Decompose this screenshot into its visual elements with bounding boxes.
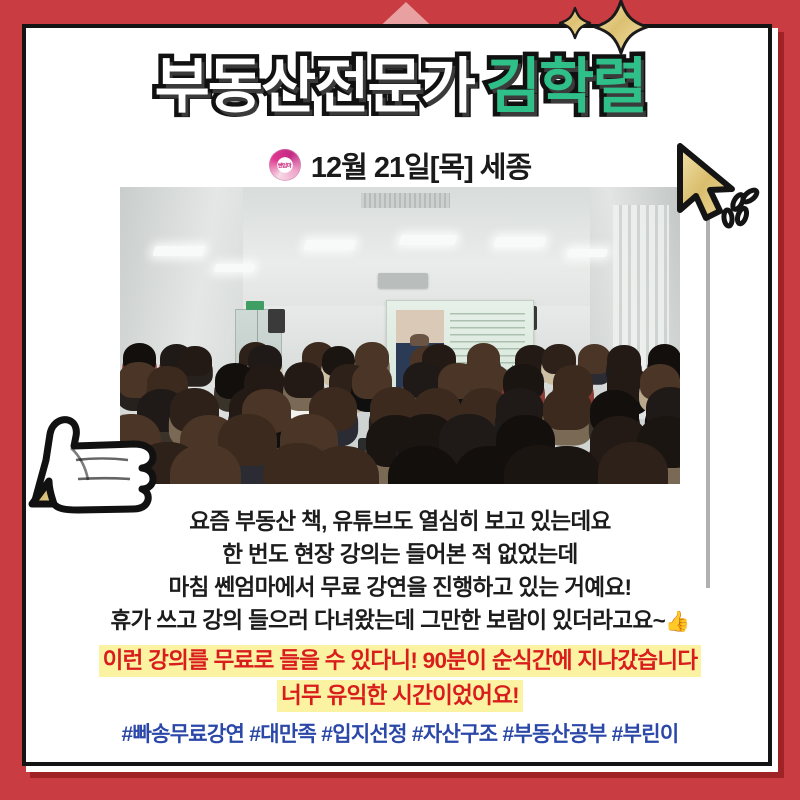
- body-line: 마침 쎈엄마에서 무료 강연을 진행하고 있는 거예요!: [40, 571, 760, 604]
- sparkle-small-icon: [558, 6, 592, 40]
- promo-card: 부동산전문가김학렬 쎈엄마 12월 21일[목] 세종: [0, 0, 800, 800]
- photo-ceiling-light: [494, 237, 547, 247]
- body-line-text: 휴가 쓰고 강의 들으러 다녀왔는데 그만한 보람이 있더라고요~: [111, 608, 666, 633]
- exit-sign-icon: [246, 301, 264, 310]
- title-main: 부동산전문가: [155, 53, 474, 120]
- body-line: 한 번도 현장 강의는 들어본 적 없었는데: [40, 538, 760, 571]
- pointing-hand-icon: [16, 386, 186, 516]
- brand-logo-label: 쎈엄마: [278, 161, 292, 169]
- audience-person: [543, 387, 592, 430]
- photo-ceiling-light: [567, 249, 609, 257]
- photo-ceiling-light: [214, 264, 256, 272]
- photo-projector: [378, 273, 428, 288]
- event-date-location: 12월 21일[목] 세종: [311, 144, 531, 186]
- highlight-block: 이런 강의를 무료로 들을 수 있다니! 90분이 순식간에 지나갔습니다 너무…: [0, 645, 800, 715]
- highlight-line: 너무 유익한 시간이었어요!: [277, 680, 523, 712]
- sparkle-large-icon: [592, 0, 650, 56]
- photo-ceiling-light: [303, 240, 356, 250]
- cursor-arrow-icon: [672, 140, 772, 230]
- body-line: 휴가 쓰고 강의 들으러 다녀왔는데 그만한 보람이 있더라고요~👍: [40, 604, 760, 639]
- thumbs-up-icon: 👍: [665, 611, 689, 633]
- brand-logo-icon: 쎈엄마: [269, 149, 301, 181]
- hashtag-list: #빠송무료강연 #대만족 #입지선정 #자산구조 #부동산공부 #부린이: [0, 718, 800, 748]
- highlight-line: 이런 강의를 무료로 들을 수 있다니! 90분이 순식간에 지나갔습니다: [99, 645, 702, 677]
- photo-ceiling-light: [152, 246, 205, 256]
- photo-ceiling-light: [399, 235, 458, 245]
- photo-audience: [120, 341, 680, 484]
- photo-ceiling-vent: [361, 193, 451, 208]
- lecture-photo: DESCENTE: [120, 187, 680, 484]
- photo-scene: DESCENTE: [120, 187, 680, 484]
- title-accent: 김학렬: [486, 53, 646, 120]
- photo-wall-speaker: [268, 309, 285, 333]
- page-title: 부동산전문가김학렬: [0, 57, 800, 117]
- body-text: 요즘 부동산 책, 유튜브도 열심히 보고 있는데요 한 번도 현장 강의는 들…: [40, 505, 760, 639]
